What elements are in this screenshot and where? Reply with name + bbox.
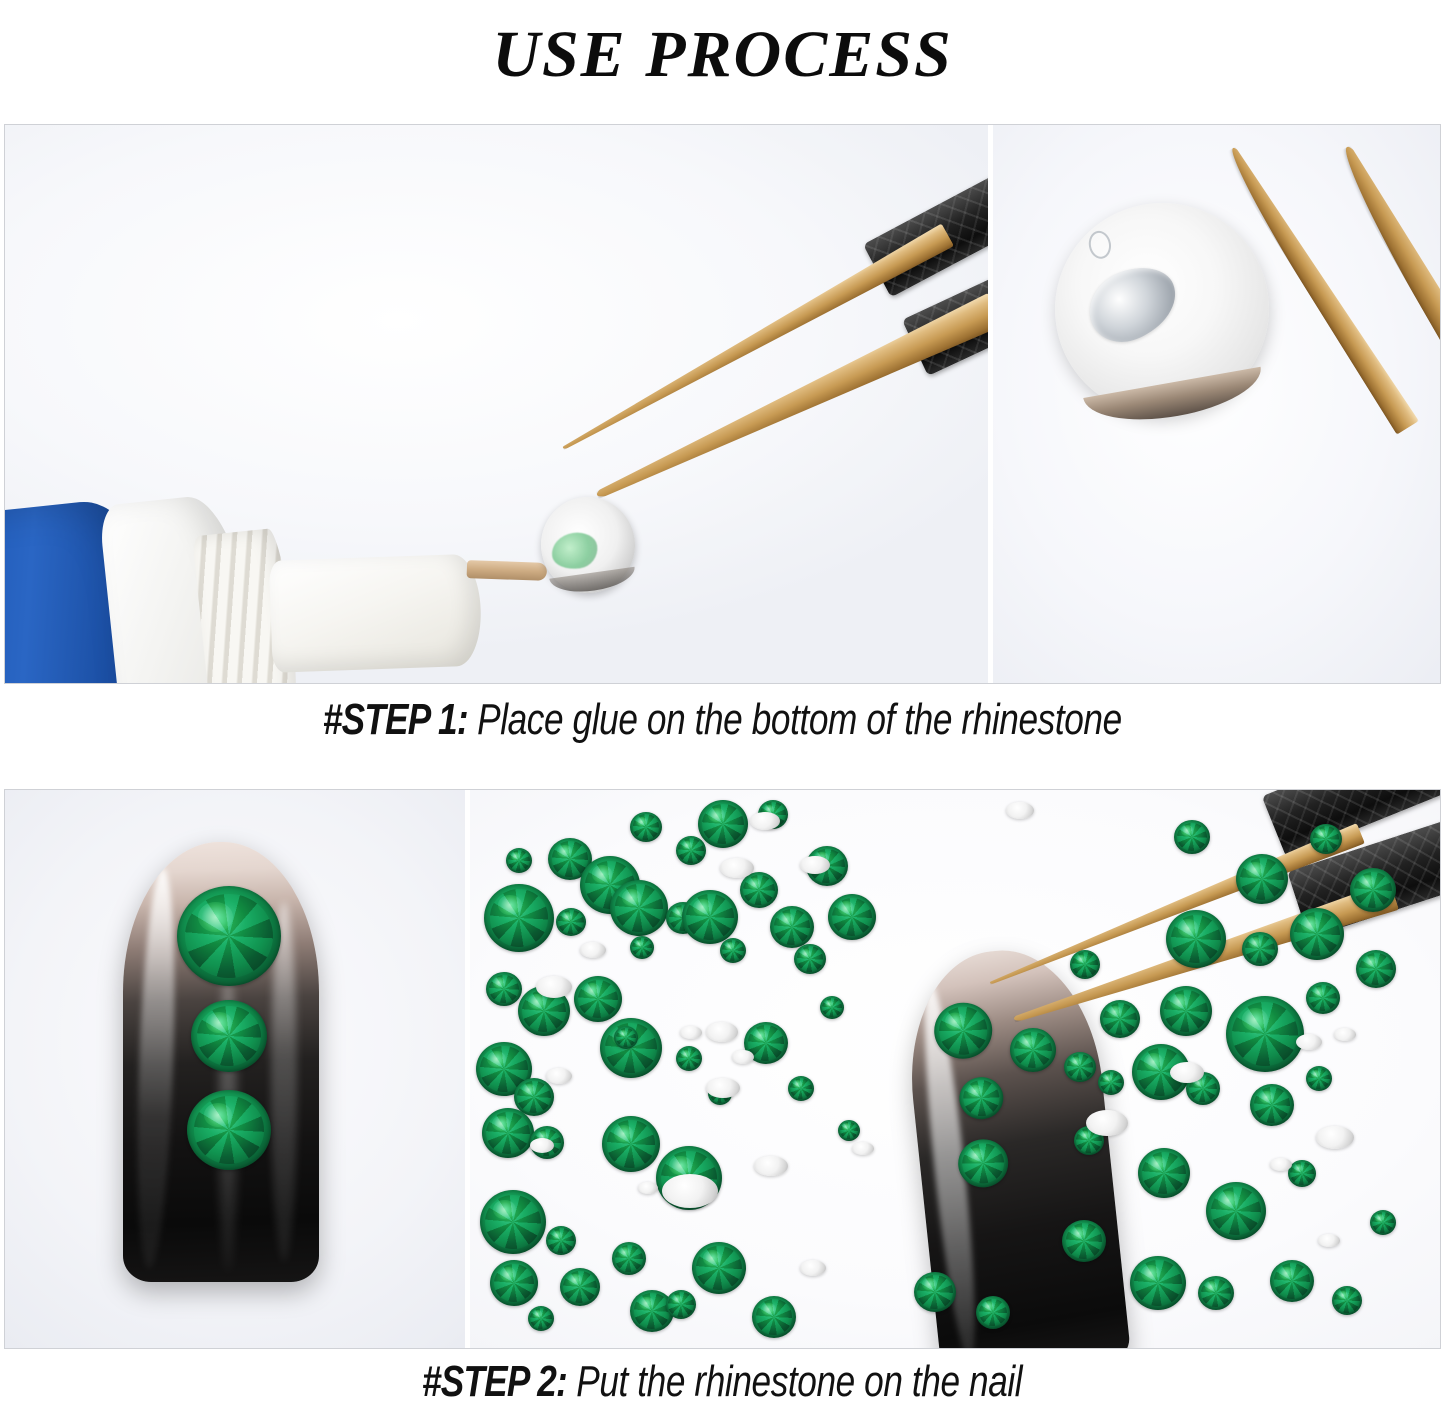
scattered-rhinestone — [1270, 1260, 1314, 1302]
scattered-rhinestone — [612, 1242, 646, 1275]
step-1-caption: #STEP 1: Place glue on the bottom of the… — [0, 698, 1445, 742]
scattered-rhinestone — [692, 1242, 746, 1294]
scattered-rhinestone — [486, 972, 522, 1006]
rhinestone-foil-back — [1334, 1028, 1356, 1041]
scattered-rhinestone — [1138, 1148, 1190, 1198]
nail-rhinestone-2 — [191, 1000, 267, 1072]
glue-bottle-nozzle — [269, 554, 483, 673]
rhinestone-foil-back — [638, 1182, 658, 1194]
scattered-rhinestone — [480, 1190, 546, 1254]
scattered-rhinestone — [976, 1296, 1010, 1329]
rhinestone-back-glue-photo — [993, 125, 1440, 683]
glue-bottle-and-tweezers-photo — [5, 125, 988, 683]
rhinestone-foil-back — [750, 812, 780, 830]
rhinestone-foil-back — [546, 1068, 572, 1084]
glue-bottle — [5, 472, 400, 683]
scattered-rhinestone — [1166, 910, 1226, 968]
scattered-rhinestone — [1236, 854, 1288, 904]
scattered-rhinestone — [1098, 1070, 1124, 1095]
scattered-rhinestone — [1062, 1220, 1106, 1262]
scattered-rhinestone — [560, 1268, 600, 1306]
rhinestone-foil-back — [1170, 1062, 1204, 1083]
scattered-rhinestone — [1250, 1084, 1294, 1126]
scattered-rhinestone — [490, 1260, 538, 1306]
scattered-rhinestone — [838, 1120, 860, 1141]
rhinestone-foil-back — [580, 942, 606, 958]
rhinestone-foil-back — [800, 1260, 826, 1276]
rhinestone-foil-back — [536, 976, 572, 998]
scattered-rhinestone — [1288, 1160, 1316, 1187]
scattered-rhinestone — [914, 1272, 956, 1312]
scattered-rhinestone — [740, 872, 778, 908]
glue-blob — [1078, 256, 1187, 353]
scattered-rhinestone — [1174, 820, 1210, 854]
scattered-rhinestone — [574, 976, 622, 1022]
step-2-caption: #STEP 2: Put the rhinestone on the nail — [0, 1360, 1445, 1404]
rhinestone-foil-back — [1316, 1126, 1354, 1149]
rhinestone-foil-back — [1270, 1158, 1292, 1171]
rhinestone-foil-back — [720, 858, 754, 878]
rhinestone-foil-back — [662, 1174, 718, 1208]
nail-highlight-left — [132, 868, 180, 1269]
scattered-rhinestone — [1306, 982, 1340, 1014]
glue-bubble — [1087, 229, 1114, 260]
rhinestone-foil-back — [852, 1142, 874, 1155]
scattered-rhinestone — [1242, 932, 1278, 966]
nail-rhinestone-3 — [187, 1090, 271, 1170]
scattered-rhinestone — [788, 1076, 814, 1101]
scattered-rhinestone — [770, 906, 814, 948]
glue-drop — [549, 530, 600, 572]
rhinestone-foil-back — [530, 1138, 554, 1153]
rhinestone-foil-back — [680, 1026, 702, 1039]
scattered-rhinestone — [556, 908, 586, 936]
page-title: USE PROCESS — [492, 22, 952, 88]
scattered-rhinestone — [720, 938, 746, 963]
scattered-rhinestone — [614, 1026, 638, 1049]
rhinestone-foil-back — [706, 1078, 740, 1098]
step-1-photo-row — [4, 124, 1441, 684]
scattered-rhinestone — [1370, 1210, 1396, 1235]
scattered-rhinestone — [794, 944, 826, 974]
scattered-rhinestone — [676, 1046, 702, 1071]
scattered-rhinestone — [1306, 1066, 1332, 1091]
scattered-rhinestone — [1160, 986, 1212, 1036]
scattered-rhinestone — [1332, 1286, 1362, 1315]
scattered-rhinestone — [1350, 868, 1396, 912]
step-1-text: Place glue on the bottom of the rhinesto… — [468, 695, 1122, 744]
scattered-rhinestone — [484, 884, 554, 952]
scattered-rhinestones-photo — [470, 790, 1440, 1348]
step-1-label: #STEP 1: — [323, 695, 468, 744]
scattered-rhinestone — [610, 880, 668, 936]
scattered-rhinestone — [602, 1116, 660, 1172]
scattered-rhinestone — [1206, 1182, 1266, 1240]
finished-nail-photo — [5, 790, 465, 1348]
rhinestone-foil-back — [754, 1156, 788, 1176]
black-ombre-nail — [123, 842, 319, 1282]
scattered-rhinestone — [630, 936, 654, 959]
scattered-rhinestone — [1100, 1000, 1140, 1038]
title-bar: USE PROCESS — [0, 0, 1445, 110]
rhinestone-foil-back — [1006, 802, 1034, 819]
rhinestone-foil-back — [706, 1022, 738, 1042]
rhinestone-foil-back — [1086, 1110, 1128, 1136]
scattered-rhinestone — [1310, 824, 1342, 854]
scattered-rhinestone — [482, 1108, 534, 1158]
scattered-rhinestone — [1290, 908, 1344, 960]
step-2-label: #STEP 2: — [422, 1357, 567, 1406]
rhinestone-foil-back — [1296, 1034, 1322, 1050]
step-2-photo-row — [4, 789, 1441, 1349]
scattered-rhinestone — [528, 1306, 554, 1331]
step-2-text: Put the rhinestone on the nail — [567, 1357, 1022, 1406]
scattered-rhinestone — [1356, 950, 1396, 988]
scattered-rhinestone — [1010, 1028, 1056, 1072]
rhinestone-foil-back — [732, 1050, 754, 1064]
scattered-rhinestone — [676, 836, 706, 865]
scattered-rhinestone — [1064, 1052, 1096, 1082]
scattered-rhinestone — [698, 800, 748, 848]
scattered-rhinestone — [1130, 1256, 1186, 1310]
scattered-rhinestone — [682, 890, 738, 944]
scattered-rhinestone — [1198, 1276, 1234, 1310]
scattered-rhinestone — [1070, 950, 1100, 979]
rhinestone-foil-back — [1318, 1234, 1340, 1247]
rhinestone-foil-back — [800, 856, 830, 874]
scattered-rhinestone — [820, 996, 844, 1019]
scattered-rhinestone — [1226, 996, 1304, 1072]
scattered-rhinestone — [828, 894, 876, 940]
scattered-rhinestone — [506, 848, 532, 873]
scattered-rhinestone — [630, 812, 662, 842]
scattered-rhinestone — [752, 1296, 796, 1338]
nail-rhinestone-1 — [177, 886, 281, 986]
scattered-rhinestone — [546, 1226, 576, 1255]
scattered-rhinestone — [666, 1290, 696, 1319]
